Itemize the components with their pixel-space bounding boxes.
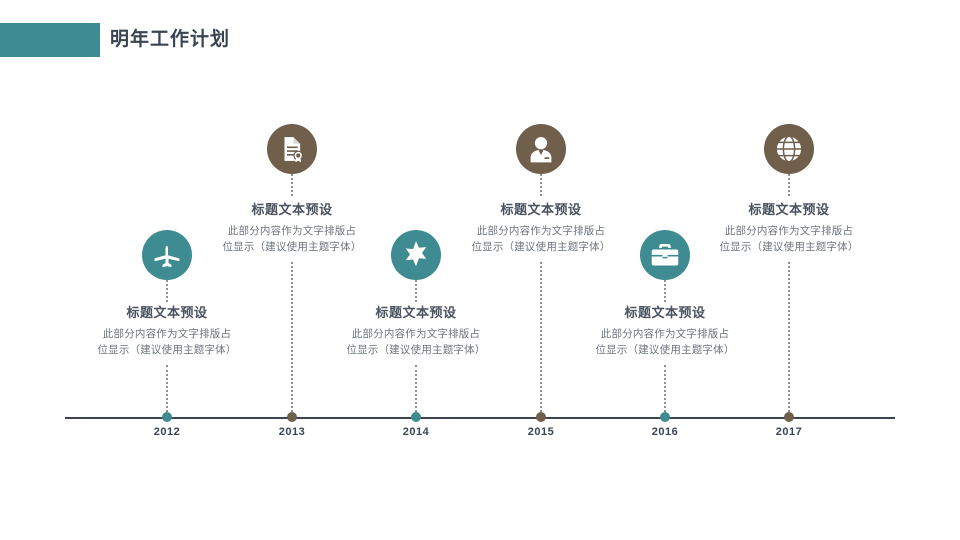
timeline-axis-dot[interactable] (536, 412, 546, 422)
connector-dotted-upper (788, 174, 790, 196)
connector-dotted-lower (291, 262, 293, 412)
timeline-milestone-2017[interactable]: 标题文本预设此部分内容作为文字排版占位显示（建议使用主题字体）2017 (679, 0, 899, 540)
connector-dotted-upper (415, 280, 417, 302)
connector-dotted-lower (788, 262, 790, 412)
timeline-axis-dot[interactable] (287, 412, 297, 422)
connector-dotted-upper (291, 174, 293, 196)
connector-dotted-upper (540, 174, 542, 196)
connector-dotted-lower (166, 365, 168, 412)
milestone-description: 此部分内容作为文字排版占位显示（建议使用主题字体） (679, 223, 899, 255)
milestone-description-line1: 此部分内容作为文字排版占 (679, 223, 899, 239)
connector-dotted-upper (664, 280, 666, 302)
connector-dotted-lower (415, 365, 417, 412)
milestone-title: 标题文本预设 (679, 200, 899, 220)
milestone-description-line2: 位显示（建议使用主题字体） (679, 239, 899, 255)
milestone-year-label: 2017 (679, 426, 899, 438)
timeline-axis-dot[interactable] (411, 412, 421, 422)
milestone-text-block: 标题文本预设此部分内容作为文字排版占位显示（建议使用主题字体） (679, 200, 899, 255)
connector-dotted-lower (664, 365, 666, 412)
globe-icon[interactable] (764, 124, 814, 174)
timeline-axis-dot[interactable] (660, 412, 670, 422)
connector-dotted-lower (540, 262, 542, 412)
timeline-axis-dot[interactable] (784, 412, 794, 422)
connector-dotted-upper (166, 280, 168, 302)
timeline-axis-dot[interactable] (162, 412, 172, 422)
